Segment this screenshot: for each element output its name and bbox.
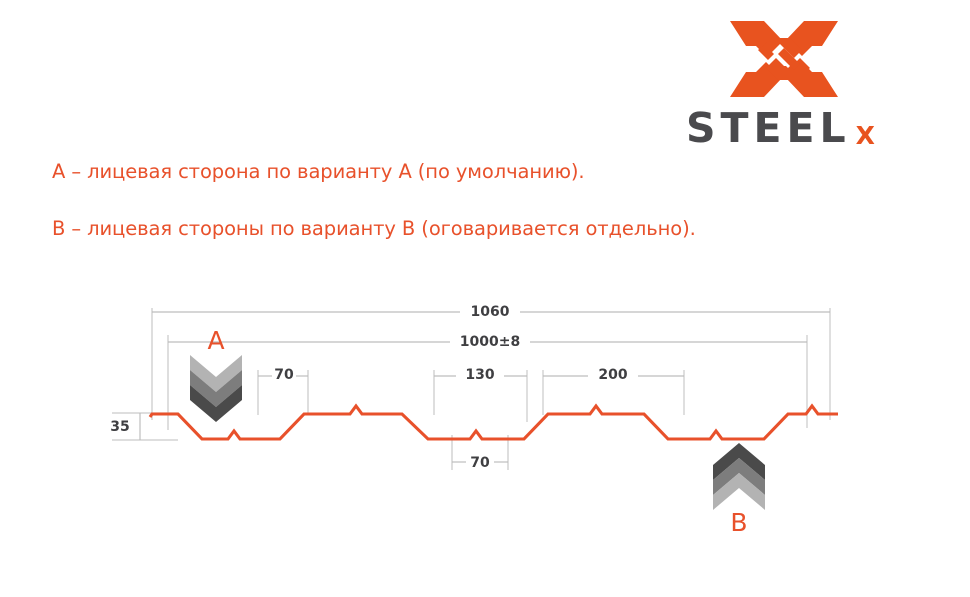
side-a-chevrons-icon (190, 355, 242, 422)
caption-side-a: А – лицевая сторона по варианту А (по ум… (52, 160, 585, 183)
side-b-chevrons-icon (713, 443, 765, 510)
profile-technical-drawing: 1060 1000±8 70 130 200 70 35 А В (0, 280, 970, 560)
brand-logo: STEEL X (686, 18, 916, 143)
caption-side-b: В – лицевая стороны по варианту В (огова… (52, 217, 696, 240)
dim-overall-width: 1060 (471, 304, 510, 320)
logo-x-suffix: X (856, 123, 875, 148)
logo-steel-text: STEEL (686, 108, 851, 149)
logo-wordmark: STEEL X (686, 108, 916, 148)
side-b-label: В (730, 508, 747, 537)
dim-profile-height: 35 (110, 419, 129, 435)
dim-rib-pitch-inner: 130 (465, 367, 494, 383)
dim-crest-width: 70 (274, 367, 294, 383)
side-a-marker: А (190, 326, 242, 422)
dim-useful-width: 1000±8 (460, 334, 520, 350)
steelx-x-mark-icon (728, 18, 840, 100)
dim-rib-pitch: 200 (598, 367, 627, 383)
side-b-marker: В (713, 443, 765, 537)
dim-valley-width: 70 (470, 455, 490, 471)
side-a-label: А (207, 326, 224, 355)
corrugated-profile (150, 406, 838, 439)
